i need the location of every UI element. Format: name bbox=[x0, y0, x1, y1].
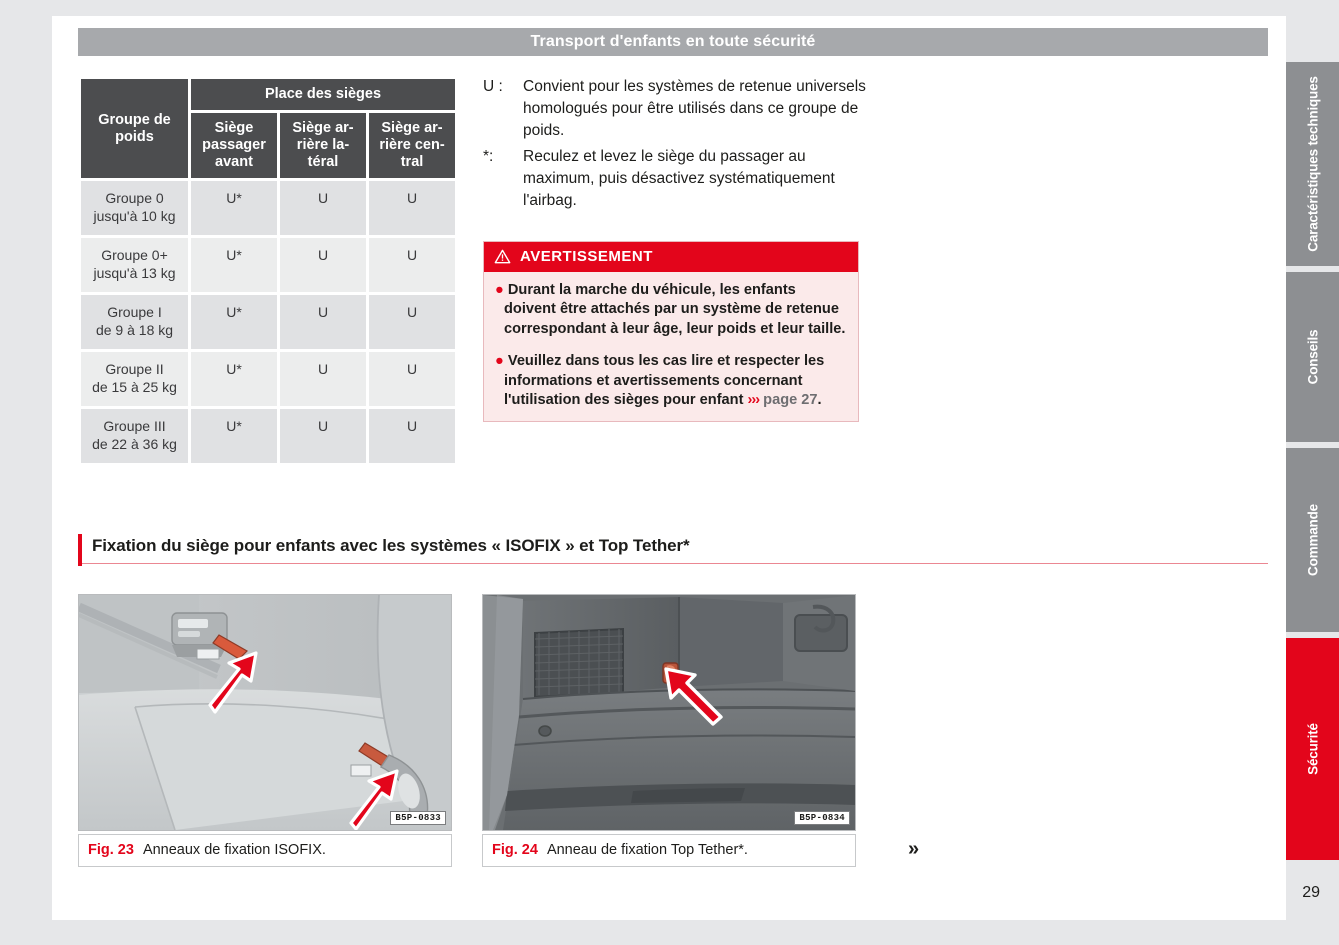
section-divider bbox=[78, 563, 1268, 564]
cross-reference-chevron-icon: ››› bbox=[748, 392, 760, 408]
cell-rear-center: U bbox=[369, 181, 455, 235]
bullet-glyph: ● bbox=[495, 353, 504, 369]
legend-text: Convient pour les systèmes de retenue un… bbox=[523, 76, 873, 142]
cell-rear-side: U bbox=[280, 409, 366, 463]
section-heading: Fixation du siège pour enfants avec les … bbox=[78, 534, 1268, 563]
sidebar-tab-caracteristiques-techniques[interactable]: Caractéristiques techniques bbox=[1286, 62, 1339, 266]
figure-part-number: B5P-0834 bbox=[794, 811, 850, 825]
cell-group: Groupe 0+ jusqu'à 13 kg bbox=[81, 238, 188, 292]
sidebar-tab-label: Conseils bbox=[1305, 330, 1320, 385]
warning-body: ● Durant la marche du véhicule, les enfa… bbox=[484, 272, 858, 421]
cell-rear-center: U bbox=[369, 352, 455, 406]
cell-front: U* bbox=[191, 181, 277, 235]
cell-rear-center: U bbox=[369, 295, 455, 349]
page-number: 29 bbox=[1302, 884, 1320, 902]
figure-isofix-anchors: B5P-0833 Fig. 23Anneaux de fixation ISOF… bbox=[78, 594, 452, 867]
page-title: Transport d'enfants en toute sécurité bbox=[531, 33, 816, 51]
table-header-rear-center: Siège ar-rière cen-tral bbox=[369, 113, 455, 178]
legend-key: *: bbox=[483, 146, 523, 212]
bullet-glyph: ● bbox=[495, 282, 504, 298]
table-header-span: Place des sièges bbox=[191, 79, 455, 110]
table-header-group: Groupe de poids bbox=[81, 79, 188, 178]
figure-image: B5P-0834 bbox=[482, 594, 856, 831]
section-accent-bar bbox=[78, 534, 82, 566]
running-header: Transport d'enfants en toute sécurité bbox=[78, 28, 1268, 56]
legend-key: U : bbox=[483, 76, 523, 142]
figure-caption: Fig. 24Anneau de fixation Top Tether*. bbox=[482, 834, 856, 867]
cell-rear-side: U bbox=[280, 238, 366, 292]
sidebar-tab-conseils[interactable]: Conseils bbox=[1286, 272, 1339, 442]
cell-front: U* bbox=[191, 238, 277, 292]
continuation-chevron-icon: » bbox=[908, 838, 917, 861]
figure-part-number: B5P-0833 bbox=[390, 811, 446, 825]
table-row: Groupe III de 22 à 36 kg U* U U bbox=[81, 409, 455, 463]
sidebar-tab-label: Caractéristiques techniques bbox=[1305, 76, 1320, 251]
sidebar-tab-securite[interactable]: Sécurité bbox=[1286, 638, 1339, 860]
figure-number: Fig. 24 bbox=[492, 842, 538, 858]
legend-item: *: Reculez et levez le siège du passager… bbox=[483, 146, 873, 212]
sidebar-tab-label: Sécurité bbox=[1305, 723, 1320, 775]
child-seat-table: Groupe de poids Place des sièges Siège p… bbox=[78, 76, 458, 466]
warning-bullet-text: Durant la marche du véhicule, les enfant… bbox=[504, 282, 845, 337]
cell-rear-side: U bbox=[280, 352, 366, 406]
table-header-rear-side: Siège ar-rière la-téral bbox=[280, 113, 366, 178]
table-row: Groupe I de 9 à 18 kg U* U U bbox=[81, 295, 455, 349]
document-page: Transport d'enfants en toute sécurité Gr… bbox=[52, 16, 1286, 920]
cell-front: U* bbox=[191, 352, 277, 406]
table-row: Groupe 0 jusqu'à 10 kg U* U U bbox=[81, 181, 455, 235]
sidebar-tab-label: Commande bbox=[1305, 504, 1320, 576]
cell-group: Groupe II de 15 à 25 kg bbox=[81, 352, 188, 406]
cell-rear-side: U bbox=[280, 295, 366, 349]
figure-top-tether-anchor: B5P-0834 Fig. 24Anneau de fixation Top T… bbox=[482, 594, 856, 867]
warning-bullet: ● Veuillez dans tous les cas lire et res… bbox=[495, 352, 847, 410]
figure-caption-text: Anneaux de fixation ISOFIX. bbox=[143, 842, 326, 858]
sidebar-tab-commande[interactable]: Commande bbox=[1286, 448, 1339, 632]
warning-period: . bbox=[818, 392, 822, 408]
cell-rear-center: U bbox=[369, 238, 455, 292]
cell-group: Groupe I de 9 à 18 kg bbox=[81, 295, 188, 349]
figure-caption-text: Anneau de fixation Top Tether*. bbox=[547, 842, 748, 858]
warning-box: AVERTISSEMENT ● Durant la marche du véhi… bbox=[483, 241, 859, 422]
legend-list: U : Convient pour les systèmes de retenu… bbox=[483, 76, 873, 216]
figure-number: Fig. 23 bbox=[88, 842, 134, 858]
cell-front: U* bbox=[191, 409, 277, 463]
cell-group: Groupe 0 jusqu'à 10 kg bbox=[81, 181, 188, 235]
table-row: Groupe II de 15 à 25 kg U* U U bbox=[81, 352, 455, 406]
section-heading-block: Fixation du siège pour enfants avec les … bbox=[78, 534, 1268, 564]
cell-rear-center: U bbox=[369, 409, 455, 463]
table-header-row-1: Groupe de poids Place des sièges bbox=[81, 79, 455, 110]
figure-image: B5P-0833 bbox=[78, 594, 452, 831]
warning-title: AVERTISSEMENT bbox=[520, 248, 653, 265]
warning-bullet: ● Durant la marche du véhicule, les enfa… bbox=[495, 281, 847, 339]
figure-caption: Fig. 23Anneaux de fixation ISOFIX. bbox=[78, 834, 452, 867]
table-header-front-passenger: Siège passager avant bbox=[191, 113, 277, 178]
cell-group: Groupe III de 22 à 36 kg bbox=[81, 409, 188, 463]
cell-rear-side: U bbox=[280, 181, 366, 235]
warning-header: AVERTISSEMENT bbox=[484, 242, 858, 272]
page-reference-link[interactable]: page 27 bbox=[763, 392, 817, 408]
legend-text: Reculez et levez le siège du passager au… bbox=[523, 146, 873, 212]
legend-item: U : Convient pour les systèmes de retenu… bbox=[483, 76, 873, 142]
cell-front: U* bbox=[191, 295, 277, 349]
page-content: Groupe de poids Place des sièges Siège p… bbox=[78, 76, 1268, 466]
table-row: Groupe 0+ jusqu'à 13 kg U* U U bbox=[81, 238, 455, 292]
warning-triangle-icon bbox=[494, 249, 511, 264]
